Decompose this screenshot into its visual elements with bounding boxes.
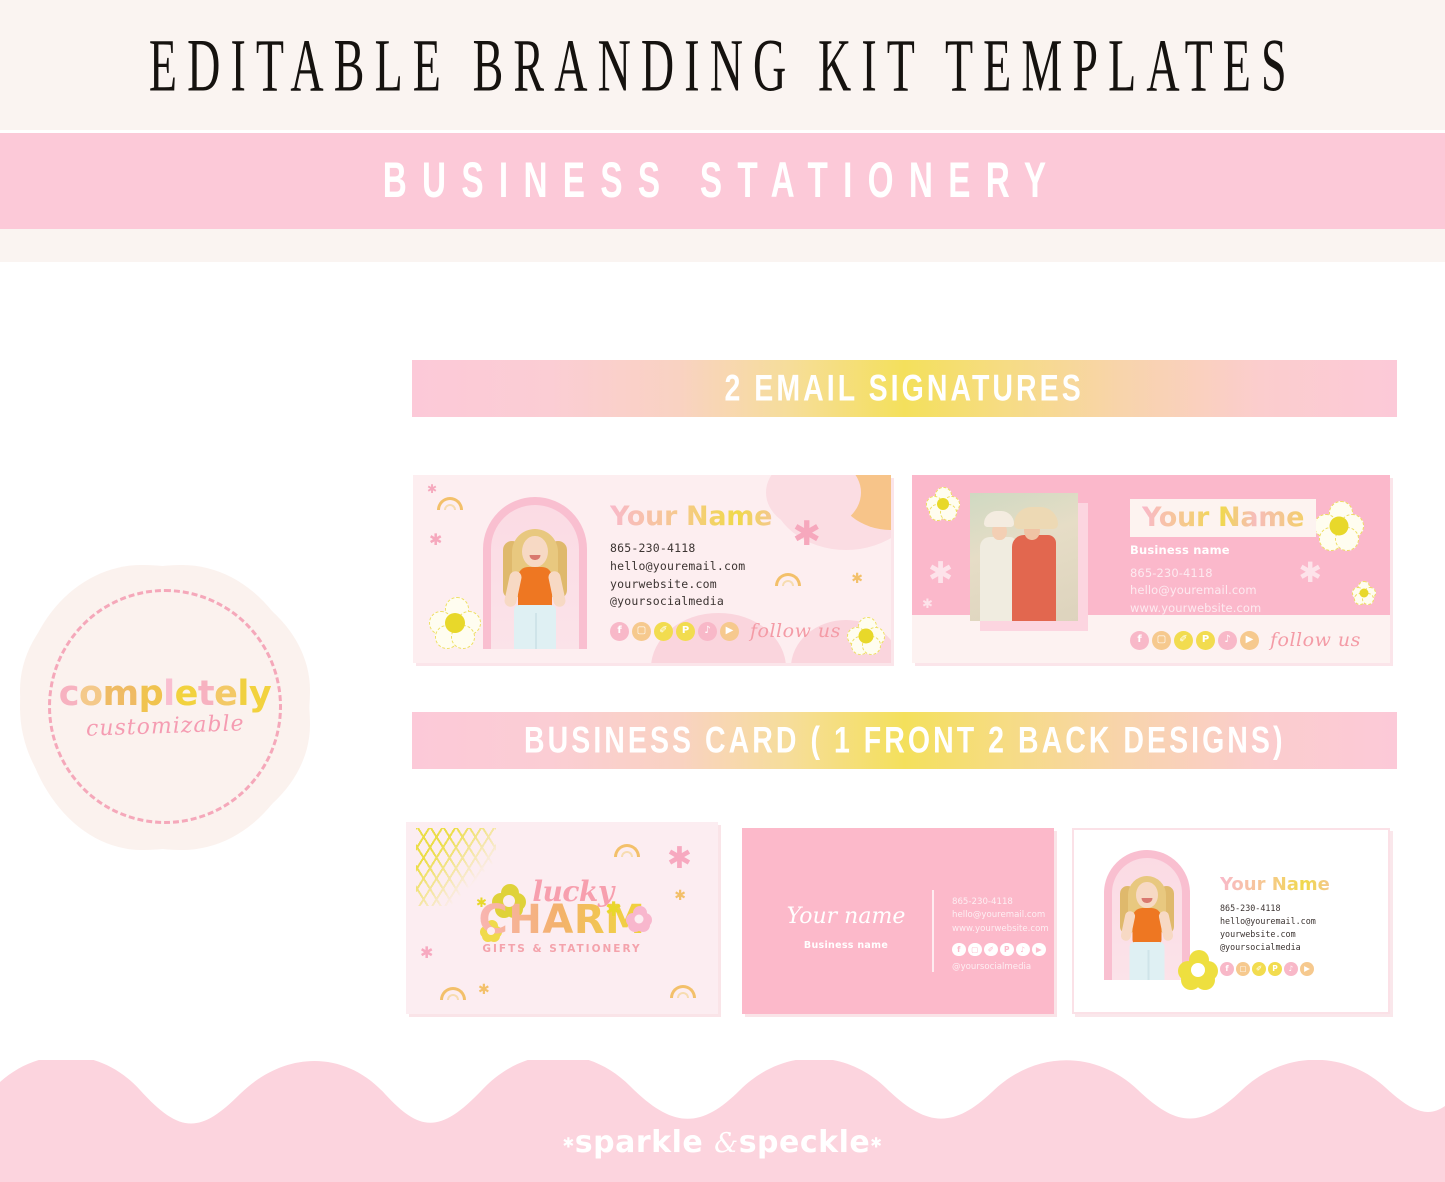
- logo-tagline: GIFTS & STATIONERY: [437, 943, 687, 955]
- pinterest-icon[interactable]: P: [676, 622, 695, 641]
- facebook-icon[interactable]: f: [1130, 631, 1149, 650]
- footer-wave: ✱sparkle &speckle✱: [0, 1060, 1445, 1182]
- badge-letter: e: [214, 674, 237, 714]
- signature-social-handle: @yoursocialmedia: [610, 593, 875, 611]
- portrait-photo: [1112, 858, 1182, 980]
- daisy-flower-icon: [926, 487, 960, 521]
- friends-photo: [970, 493, 1078, 621]
- facebook-icon[interactable]: f: [1220, 962, 1234, 976]
- tiktok-icon[interactable]: ♪: [1218, 631, 1237, 650]
- sparkle-icon: ✱: [429, 533, 442, 549]
- social-icon-row[interactable]: f ▢ ✐ P ♪ ▶ follow us: [1130, 629, 1361, 651]
- portrait-photo: [491, 505, 579, 649]
- card-website: www.yourwebsite.com: [952, 923, 1054, 936]
- rainbow-icon: [614, 844, 640, 857]
- email-signature-card-2[interactable]: ✱ ✱ ✱ Your Name Business name 865-230-41…: [912, 475, 1390, 663]
- business-card-back-2[interactable]: Your Name 865-230-4118 hello@youremail.c…: [1072, 828, 1390, 1014]
- badge-letter: t: [198, 674, 214, 714]
- wave-shape: [0, 1060, 1445, 1182]
- sparkle-icon: ✱: [427, 483, 437, 495]
- signature-name: Your Name: [1142, 504, 1304, 531]
- badge-letter: y: [249, 674, 271, 714]
- youtube-icon[interactable]: ▶: [720, 622, 739, 641]
- brand-second: speckle: [739, 1125, 871, 1160]
- cream-divider-strip: [0, 229, 1445, 262]
- card-social-handle: @yoursocialmedia: [952, 962, 1054, 972]
- social-icon-row[interactable]: f ▢ ✐ P ♪ ▶ follow us: [610, 620, 875, 642]
- daisy-flower-icon: [429, 597, 481, 649]
- tiktok-icon[interactable]: ♪: [698, 622, 717, 641]
- section-banner-email-signatures: 2 EMAIL SIGNATURES: [412, 360, 1397, 417]
- arch-photo-frame: [483, 497, 587, 649]
- sparkle-icon: ✱: [476, 896, 487, 909]
- instagram-icon[interactable]: ▢: [632, 622, 651, 641]
- badge-word-completely: completely: [59, 677, 271, 712]
- pinterest-icon[interactable]: P: [1268, 962, 1282, 976]
- badge-letter: l: [237, 674, 249, 714]
- badge-letter: p: [139, 674, 164, 714]
- rainbow-icon: [440, 987, 466, 1000]
- sparkle-icon: ✱: [928, 559, 953, 589]
- card-email: hello@youremail.com: [952, 909, 1054, 922]
- signature-phone: 865-230-4118: [610, 540, 875, 558]
- instagram-icon[interactable]: ▢: [1236, 962, 1250, 976]
- daisy-flower-icon: [1178, 950, 1218, 990]
- badge-letter: e: [175, 674, 198, 714]
- pinterest-icon[interactable]: P: [1196, 631, 1215, 650]
- daisy-flower-icon: [626, 906, 652, 932]
- instagram-icon[interactable]: ▢: [968, 943, 982, 957]
- brand-first: sparkle: [575, 1125, 703, 1160]
- section-banner-label: 2 EMAIL SIGNATURES: [725, 367, 1084, 410]
- twitter-icon[interactable]: ✐: [654, 622, 673, 641]
- badge-letter: l: [163, 674, 175, 714]
- business-card-front[interactable]: ✱ ✱ ✱ ✱ ✱ ✱ lucky CHARM GIFTS & STATIONE…: [406, 822, 718, 1014]
- facebook-icon[interactable]: f: [610, 622, 629, 641]
- twitter-icon[interactable]: ✐: [984, 943, 998, 957]
- badge-letter: c: [59, 674, 79, 714]
- page-title: EDITABLE BRANDING KIT TEMPLATES: [149, 22, 1297, 109]
- business-card-back-1[interactable]: Your name Business name 865-230-4118 hel…: [742, 828, 1054, 1014]
- brand-ampersand: &: [714, 1128, 739, 1159]
- card-name: Your Name: [1220, 876, 1390, 894]
- sparkle-icon: ✱: [478, 982, 490, 996]
- follow-us-label: follow us: [1270, 629, 1361, 651]
- sparkle-icon: ✱: [420, 946, 433, 962]
- signature-email: hello@youremail.com: [610, 558, 875, 576]
- youtube-icon[interactable]: ▶: [1032, 943, 1046, 957]
- card-website: yourwebsite.com: [1220, 928, 1390, 941]
- rainbow-icon: [437, 497, 463, 510]
- card-phone: 865-230-4118: [1220, 902, 1390, 915]
- pinterest-icon[interactable]: P: [1000, 943, 1014, 957]
- brand-logo: ✱sparkle &speckle✱: [0, 1125, 1445, 1160]
- badge-letter: m: [103, 674, 139, 714]
- subtitle-bar: BUSINESS STATIONERY: [0, 133, 1445, 229]
- tiktok-icon[interactable]: ♪: [1016, 943, 1030, 957]
- social-icon-row[interactable]: f ▢ ✐ P ♪ ▶: [1220, 962, 1390, 976]
- sparkle-icon: ✱: [563, 1136, 575, 1152]
- card-name: Your name: [776, 906, 916, 928]
- card-social-handle: @yoursocialmedia: [1220, 941, 1390, 954]
- completely-customizable-badge: completely customizable: [20, 565, 310, 850]
- email-signature-card-1[interactable]: ✱ ✱ ✱ ✱ Your Name: [413, 475, 891, 663]
- youtube-icon[interactable]: ▶: [1240, 631, 1259, 650]
- signature-phone: 865-230-4118: [1130, 565, 1380, 582]
- follow-us-label: follow us: [750, 620, 841, 642]
- vertical-divider: [932, 890, 934, 972]
- photo-offset-frame: [980, 503, 1088, 631]
- badge-letter: o: [79, 674, 103, 714]
- signature-name: Your Name: [610, 503, 875, 530]
- sparkle-icon: ✱: [605, 900, 622, 920]
- sparkle-icon: ✱: [667, 844, 692, 874]
- card-phone: 865-230-4118: [952, 896, 1054, 909]
- signature-name-box: Your Name: [1130, 499, 1316, 537]
- instagram-icon[interactable]: ▢: [1152, 631, 1171, 650]
- header-bar: EDITABLE BRANDING KIT TEMPLATES: [0, 0, 1445, 130]
- signature-business-name: Business name: [1130, 543, 1380, 557]
- signature-email: hello@youremail.com: [1130, 582, 1380, 599]
- facebook-icon[interactable]: f: [952, 943, 966, 957]
- tiktok-icon[interactable]: ♪: [1284, 962, 1298, 976]
- signature-website: yourwebsite.com: [610, 576, 875, 594]
- sparkle-icon: ✱: [870, 1136, 882, 1152]
- social-icon-row[interactable]: f ▢ ✐ P ♪ ▶: [952, 943, 1054, 957]
- twitter-icon[interactable]: ✐: [1252, 962, 1266, 976]
- card-email: hello@youremail.com: [1220, 915, 1390, 928]
- section-banner-label: BUSINESS CARD ( 1 FRONT 2 BACK DESIGNS): [524, 719, 1285, 762]
- card-business-name: Business name: [776, 940, 916, 951]
- signature-website: www.yourwebsite.com: [1130, 600, 1380, 617]
- page-subtitle: BUSINESS STATIONERY: [383, 153, 1062, 210]
- badge-script-customizable: customizable: [85, 711, 244, 742]
- twitter-icon[interactable]: ✐: [1174, 631, 1193, 650]
- sparkle-icon: ✱: [922, 597, 933, 610]
- rainbow-icon: [670, 985, 696, 998]
- youtube-icon[interactable]: ▶: [1300, 962, 1314, 976]
- section-banner-business-card: BUSINESS CARD ( 1 FRONT 2 BACK DESIGNS): [412, 712, 1397, 769]
